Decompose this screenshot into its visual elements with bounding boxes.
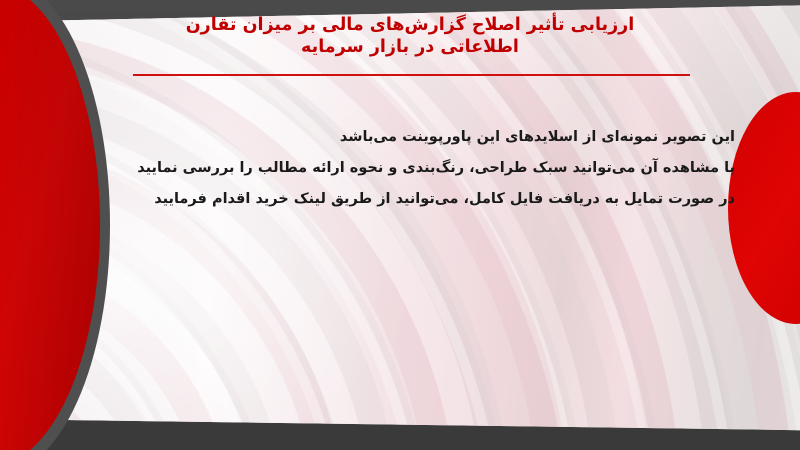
body-text-line-3: در صورت تمایل به دریافت فایل کامل، می‌تو… <box>110 184 735 215</box>
panel-sheen-highlight <box>0 0 800 450</box>
title-underline-rule <box>133 74 690 76</box>
body-text-line-2: با مشاهده آن می‌توانید سبک طراحی، رنگ‌بن… <box>110 153 735 184</box>
slide-content-panel <box>0 0 800 450</box>
slide-title: ارزیابی تأثیر اصلاح گزارش‌های مالی بر می… <box>120 14 700 58</box>
presentation-slide: ارزیابی تأثیر اصلاح گزارش‌های مالی بر می… <box>0 0 800 450</box>
slide-body-text: این تصویر نمونه‌ای از اسلایدهای این پاور… <box>110 122 735 215</box>
slide-title-line-2: اطلاعاتی در بازار سرمایه <box>120 36 700 58</box>
slide-title-line-1: ارزیابی تأثیر اصلاح گزارش‌های مالی بر می… <box>120 14 700 36</box>
body-text-line-1: این تصویر نمونه‌ای از اسلایدهای این پاور… <box>110 122 735 153</box>
